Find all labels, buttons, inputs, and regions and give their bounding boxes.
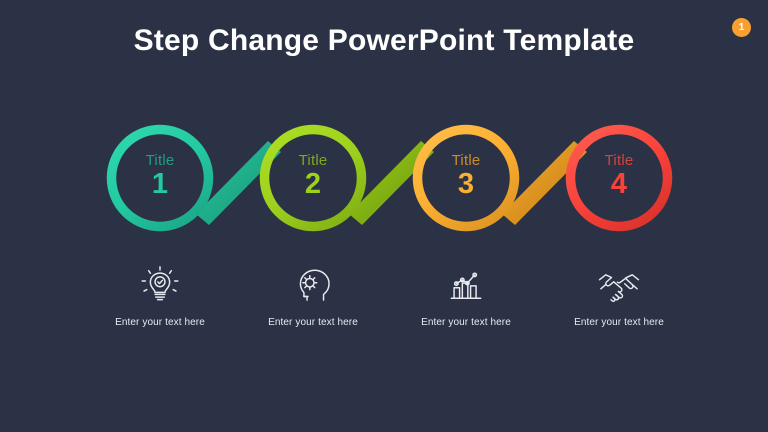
step-item-2[interactable]: Enter your text here: [238, 262, 388, 329]
ring-4: [571, 130, 668, 227]
bar-chart-growth-icon: [391, 262, 541, 308]
step-caption-4: Enter your text here: [544, 316, 694, 329]
lightbulb-check-icon: [85, 262, 235, 308]
ring-3: [418, 130, 515, 227]
handshake-icon: [544, 262, 694, 308]
slide-canvas: Step Change PowerPoint Template 1: [0, 0, 768, 432]
step-caption-1: Enter your text here: [85, 316, 235, 329]
step-item-3[interactable]: Enter your text here: [391, 262, 541, 329]
ring-2: [265, 130, 362, 227]
step-item-4[interactable]: Enter your text here: [544, 262, 694, 329]
step-captions-row: Enter your text here Enter your text her…: [0, 262, 768, 342]
step-caption-2: Enter your text here: [238, 316, 388, 329]
step-chain-diagram: [0, 0, 768, 432]
ring-1: [112, 130, 209, 227]
step-caption-3: Enter your text here: [391, 316, 541, 329]
head-gear-icon: [238, 262, 388, 308]
step-item-1[interactable]: Enter your text here: [85, 262, 235, 329]
